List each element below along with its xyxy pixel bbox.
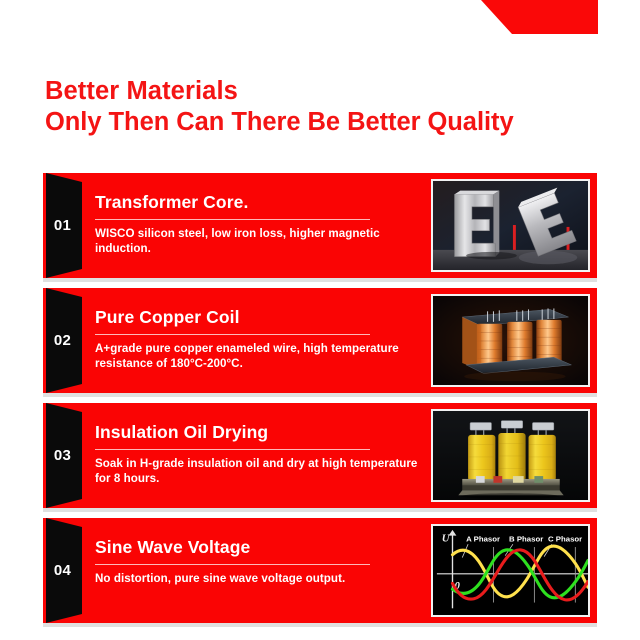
title-divider	[95, 219, 370, 220]
yellow-insulated-transformer-photo	[431, 409, 590, 502]
transformer-core-laminations-photo	[431, 179, 590, 272]
headline-line-1: Better Materials	[45, 76, 514, 107]
card-number-label: 04	[46, 518, 79, 623]
corner-accent-shape	[478, 0, 598, 34]
card-description: No distortion, pure sine wave voltage ou…	[95, 572, 425, 587]
card-number-badge: 04	[46, 518, 82, 623]
feature-card[interactable]: 01 Transformer Core. WISCO silicon steel…	[43, 173, 597, 278]
card-title: Sine Wave Voltage	[95, 537, 425, 558]
chart-legend-b: B Phasor	[509, 534, 543, 543]
chart-legend-a: A Phasor	[466, 534, 500, 543]
card-number-badge: 01	[46, 173, 82, 278]
feature-card[interactable]: 03 Insulation Oil Drying Soak in H-grade…	[43, 403, 597, 508]
card-number-badge: 02	[46, 288, 82, 393]
card-title: Insulation Oil Drying	[95, 422, 425, 443]
title-divider	[95, 449, 370, 450]
card-text-block: Pure Copper Coil A+grade pure copper ena…	[95, 307, 425, 371]
title-divider	[95, 564, 370, 565]
headline-line-2: Only Then Can There Be Better Quality	[45, 107, 514, 138]
copper-coil-transformer-photo	[431, 294, 590, 387]
card-number-label: 03	[46, 403, 79, 508]
feature-card-list: 01 Transformer Core. WISCO silicon steel…	[43, 173, 597, 623]
card-number-badge: 03	[46, 403, 82, 508]
card-text-block: Sine Wave Voltage No distortion, pure si…	[95, 537, 425, 587]
chart-legend-c: C Phasor	[548, 534, 582, 543]
feature-card[interactable]: 04 Sine Wave Voltage No distortion, pure…	[43, 518, 597, 623]
feature-card[interactable]: 02 Pure Copper Coil A+grade pure copper …	[43, 288, 597, 393]
card-title: Transformer Core.	[95, 192, 425, 213]
card-description: A+grade pure copper enameled wire, high …	[95, 342, 425, 371]
card-description: Soak in H-grade insulation oil and dry a…	[95, 457, 425, 486]
card-text-block: Insulation Oil Drying Soak in H-grade in…	[95, 422, 425, 486]
page-headline: Better Materials Only Then Can There Be …	[45, 76, 514, 138]
card-text-block: Transformer Core. WISCO silicon steel, l…	[95, 192, 425, 256]
card-description: WISCO silicon steel, low iron loss, high…	[95, 227, 425, 256]
card-number-label: 02	[46, 288, 79, 393]
title-divider	[95, 334, 370, 335]
chart-ylabel: U	[442, 533, 451, 544]
card-title: Pure Copper Coil	[95, 307, 425, 328]
sine-wave-phasor-chart: U 0 A Phasor B Phasor C Phasor	[431, 524, 590, 617]
card-number-label: 01	[46, 173, 79, 278]
